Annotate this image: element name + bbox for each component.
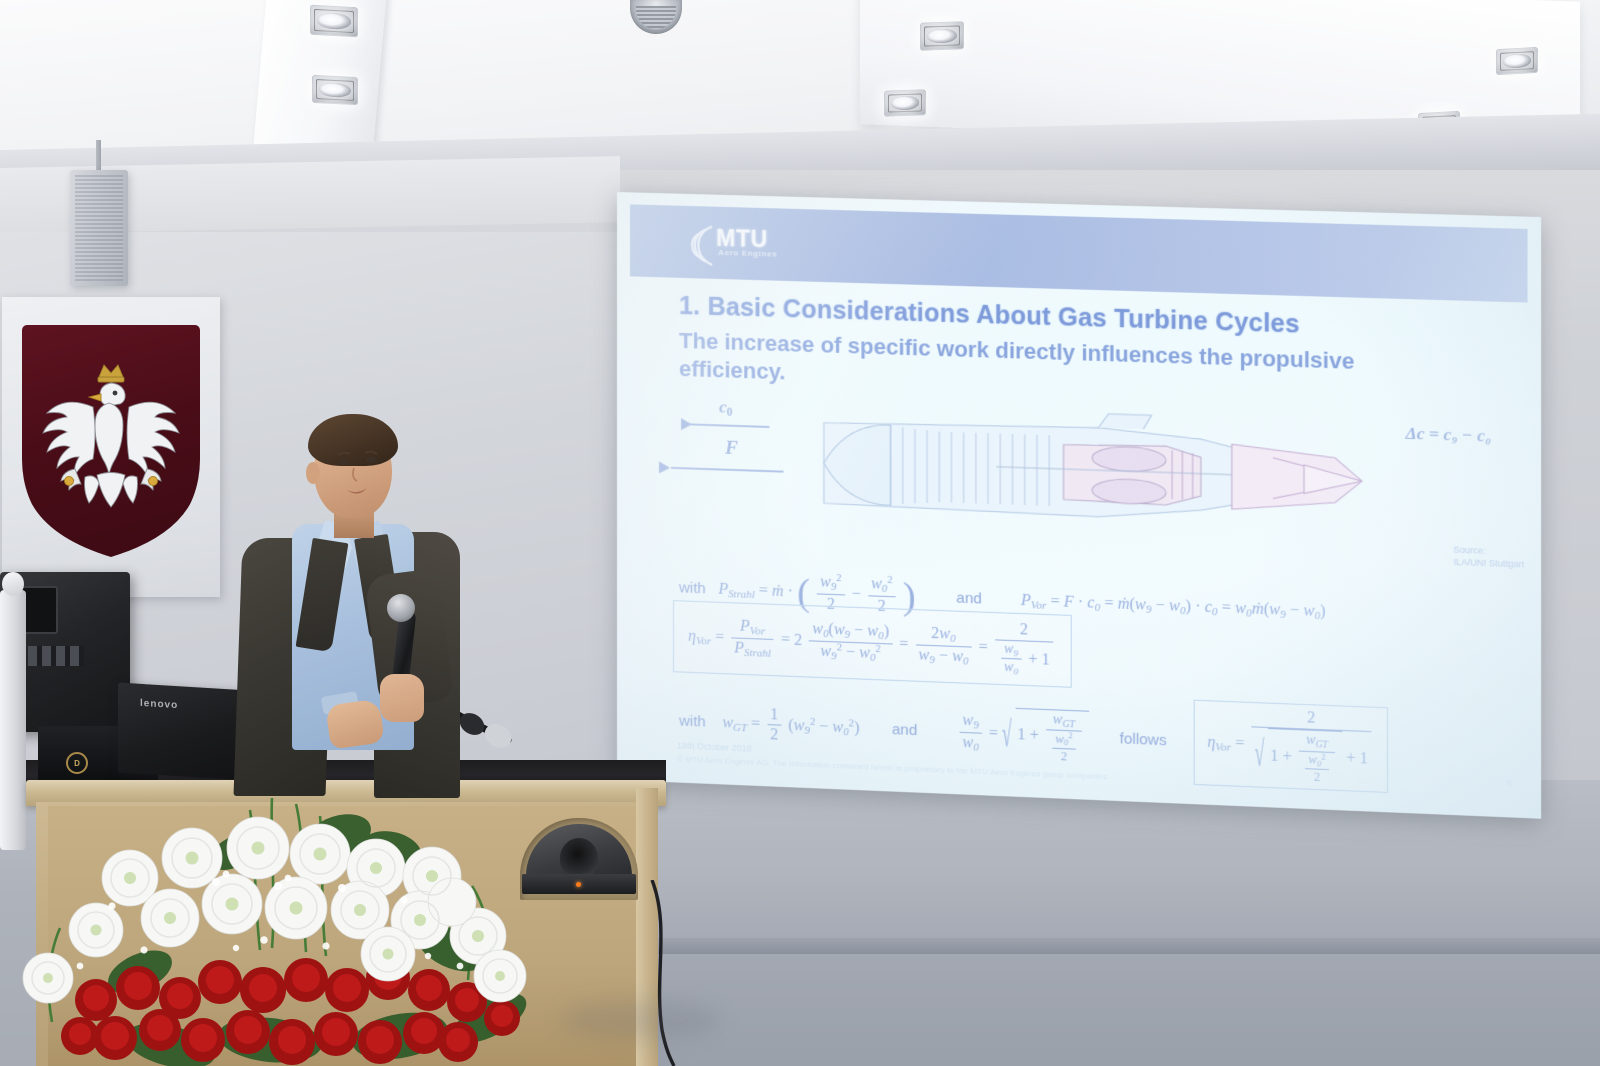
ceiling-spotlight-4: [884, 89, 926, 116]
figure-delta-c-label: Δc = c₉ − c₀: [1406, 423, 1492, 446]
formula1-and-label: and: [956, 589, 981, 607]
formula3-with-label: with: [679, 712, 706, 730]
formula1-with-label: with: [679, 579, 706, 597]
face-features: [314, 422, 392, 518]
ceiling-spotlight-1: [310, 5, 358, 38]
eta-vor-expression: ηVor = PVorPStrahl = 2 w0(w9 − w0)w92 − …: [688, 627, 1056, 658]
formula3-wgt: wGT = 12 (w92 − w02): [710, 714, 863, 737]
wall-speaker: [70, 170, 128, 286]
slide-surface: MTU Aero Engines 1. Basic Considerations…: [617, 192, 1541, 819]
turbofan-schematic-icon: [794, 396, 1387, 578]
figure-arrow-c0-head: [681, 418, 692, 430]
hand-holding-microphone: [380, 674, 424, 722]
figure-arrow-f-label: F: [725, 438, 738, 460]
figure-arrow-c0-line: [691, 423, 769, 428]
figure-source-note: Source: ILA/UNI Stuttgart: [1453, 543, 1524, 570]
coat-of-arms-plaque: [2, 297, 220, 597]
baseboard: [640, 938, 1600, 954]
ceiling-spotlight-3: [920, 21, 964, 51]
figure-arrow-f-line: [671, 467, 784, 473]
polish-eagle-icon: [31, 351, 191, 531]
projection-screen: MTU Aero Engines 1. Basic Considerations…: [617, 192, 1541, 819]
mtu-tagline: Aero Engines: [718, 248, 777, 259]
presenter: [232, 412, 464, 804]
slide-subtitle: The increase of specific work directly i…: [679, 327, 1414, 406]
slide-header-band: MTU Aero Engines: [630, 204, 1528, 302]
final-eta-vor-boxed: ηVor = 2 1 + wGTw022 + 1: [1194, 700, 1388, 794]
final-eta-expression: ηVor = 2 1 + wGTw022 + 1: [1207, 734, 1374, 758]
red-carnations: [61, 956, 520, 1065]
floor-area: [640, 860, 1600, 1066]
source-value: ILA/UNI Stuttgart: [1453, 556, 1524, 571]
figure-arrow-f-head: [659, 461, 670, 473]
presentation-room-photo: MTU Aero Engines 1. Basic Considerations…: [0, 0, 1600, 1066]
ceiling-spotlight-5: [1496, 47, 1538, 75]
monitor-ports: [28, 646, 84, 666]
formula1-p-strahl: PStrahl = ṁ · ( w922 − w022 ): [710, 580, 920, 605]
slide-page-number: 8: [1507, 777, 1512, 787]
dell-logo-icon: D: [66, 752, 88, 774]
formula3-follows-label: follows: [1120, 730, 1167, 749]
speaker-mount: [96, 140, 101, 174]
lenovo-logo-icon: lenovo: [140, 698, 178, 711]
ceiling-spotlight-2: [312, 75, 358, 105]
left-hand-gesturing: [325, 698, 385, 749]
formula-row-2-boxed: ηVor = PVorPStrahl = 2 w0(w9 − w0)w92 − …: [673, 600, 1071, 688]
formula3-and-label: and: [892, 721, 917, 739]
podium-shadow: [560, 1000, 720, 1040]
eta-vor-boxed-equation: ηVor = PVorPStrahl = 2 w0(w9 − w0)w92 − …: [673, 600, 1071, 688]
figure-arrow-c0-label: c0: [719, 397, 732, 419]
flower-arrangement: [20, 790, 590, 1066]
engine-figure: c0 F: [673, 392, 1512, 588]
formula3-ratio: w9w0 = 1 + wGTw022: [956, 723, 1093, 746]
